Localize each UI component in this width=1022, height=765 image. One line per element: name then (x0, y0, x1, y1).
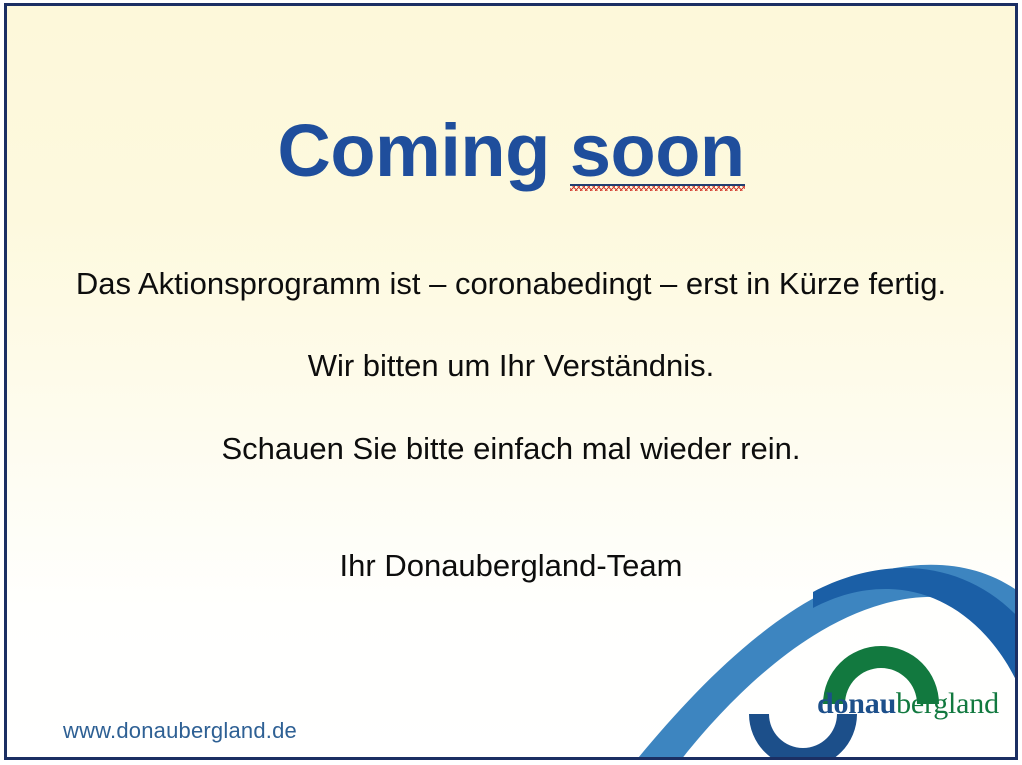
body-line-3: Schauen Sie bitte einfach mal wieder rei… (7, 430, 1015, 468)
slide-frame: Coming soon Das Aktionsprogramm ist – co… (4, 3, 1018, 760)
donaubergland-logo: donaubergland (627, 546, 1018, 760)
website-url[interactable]: www.donaubergland.de (63, 718, 297, 744)
logo-blue-arc (749, 714, 857, 760)
body-line-1: Das Aktionsprogramm ist – coronabedingt … (7, 265, 1015, 303)
title-text-misspelled: soon (570, 109, 745, 193)
body-line-2: Wir bitten um Ihr Verständnis. (7, 347, 1015, 385)
title-text-main: Coming (277, 109, 569, 192)
logo-word-bergland: bergland (896, 687, 999, 720)
slide-content: Coming soon Das Aktionsprogramm ist – co… (7, 6, 1015, 757)
page-title: Coming soon (7, 109, 1015, 193)
logo-artwork (627, 546, 1018, 760)
logo-wordmark: donaubergland (817, 688, 999, 720)
slide-canvas: Coming soon Das Aktionsprogramm ist – co… (0, 0, 1022, 765)
logo-word-donau: donau (817, 687, 896, 720)
